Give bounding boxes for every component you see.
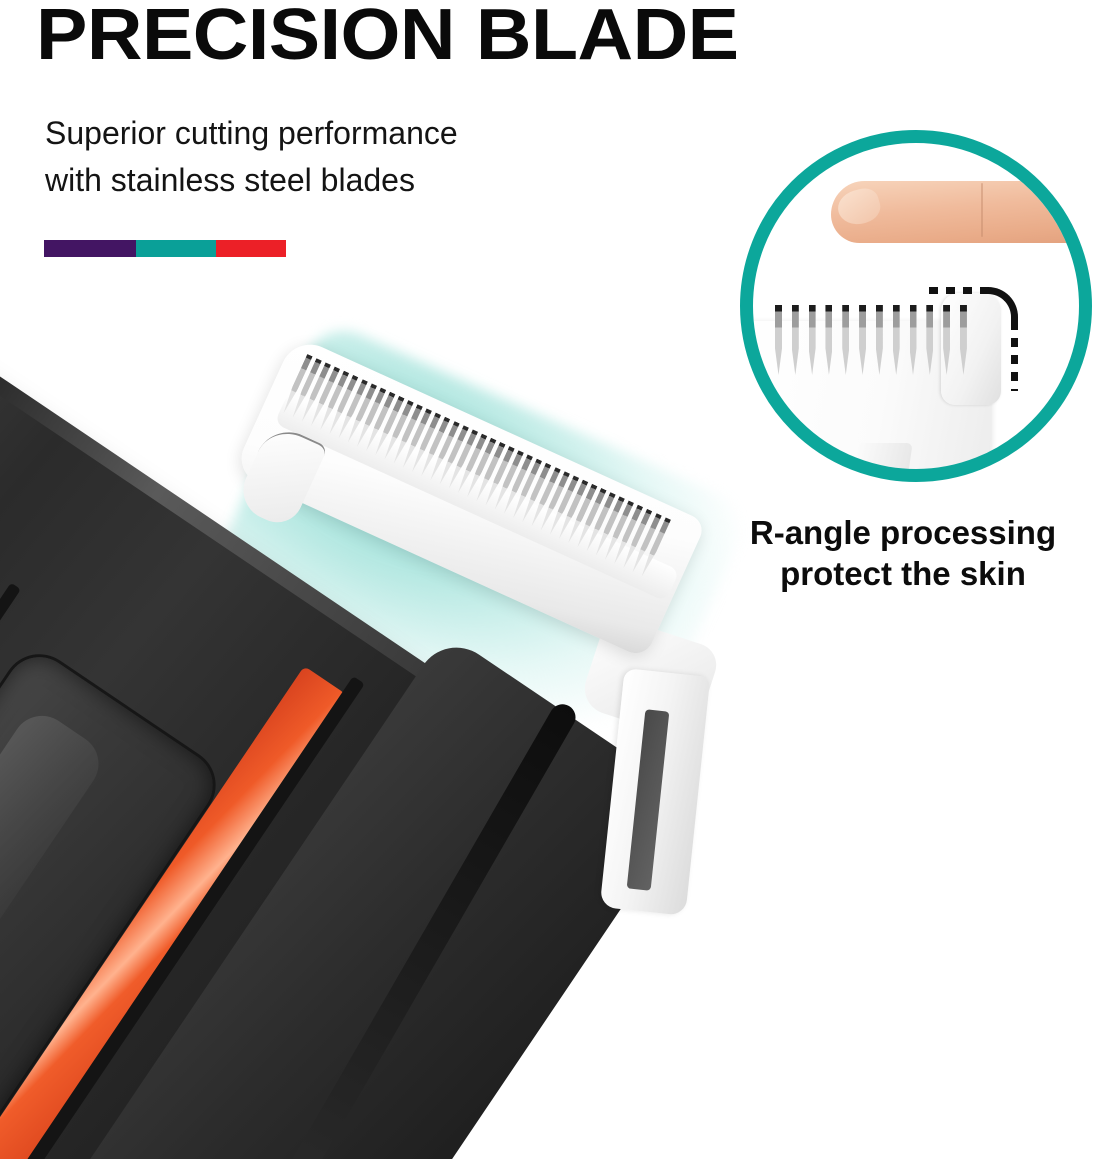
product-image [0, 380, 780, 1159]
accent-rule-segment-red [216, 240, 286, 257]
inset-ring-border [740, 130, 1092, 482]
accent-rule-segment-teal [136, 240, 216, 257]
page-title: PRECISION BLADE [36, 0, 739, 74]
subtitle-text: Superior cutting performance with stainl… [45, 110, 458, 204]
precision-blade-banner: PRECISION BLADE Superior cutting perform… [0, 0, 1106, 1159]
accent-rule [44, 240, 286, 257]
accent-rule-segment-purple [44, 240, 136, 257]
inset-caption: R-angle processing protect the skin [700, 512, 1106, 594]
r-angle-detail-inset [740, 130, 1092, 482]
